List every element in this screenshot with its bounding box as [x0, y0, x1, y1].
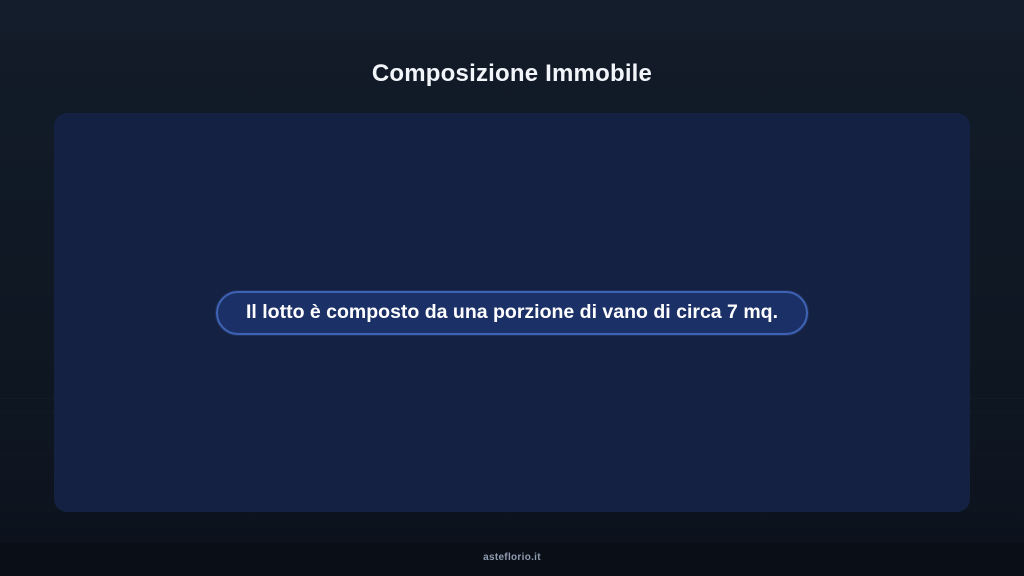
page-title: Composizione Immobile: [0, 60, 1024, 88]
content-card-body: Il lotto è composto da una porzione di v…: [54, 113, 970, 512]
composition-callout-pill: Il lotto è composto da una porzione di v…: [216, 291, 808, 335]
content-card: Il lotto è composto da una porzione di v…: [54, 113, 970, 512]
presentation-slide: Composizione Immobile Il lotto è compost…: [0, 0, 1024, 576]
footer-brand-label: asteflorio.it: [0, 552, 1024, 563]
